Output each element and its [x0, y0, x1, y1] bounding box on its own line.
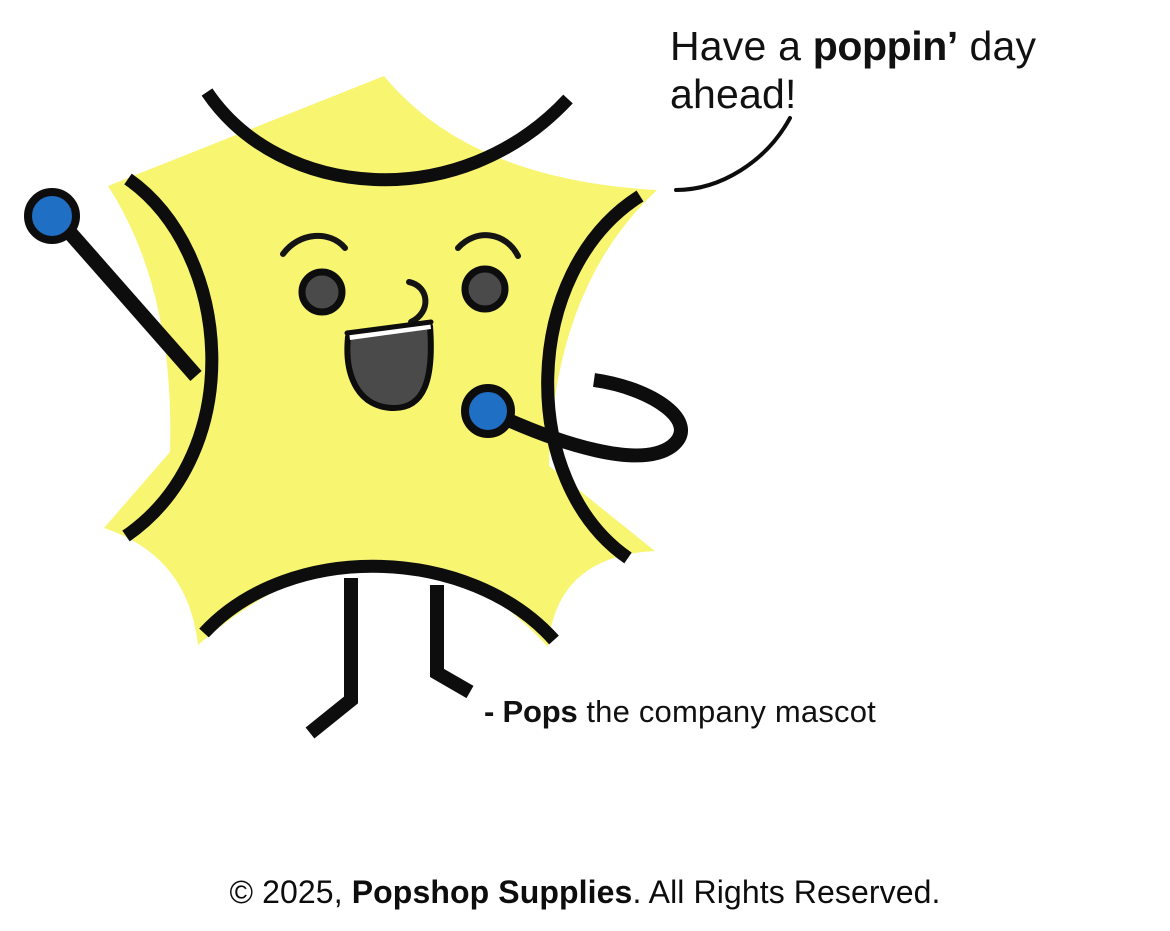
attribution-name: - Pops	[484, 694, 578, 729]
footer-brand: Popshop Supplies	[352, 874, 633, 910]
mascot-attribution: - Pops the company mascot	[484, 694, 876, 730]
left-eye	[302, 272, 342, 312]
speech-line-1-suffix: day	[958, 23, 1036, 69]
right-hand	[465, 388, 511, 434]
speech-line-1-emphasis: poppin’	[813, 23, 958, 69]
left-leg	[310, 578, 351, 733]
legs-group	[310, 578, 470, 733]
mascot-illustration-page: Have a poppin’ day ahead! - Pops the com…	[0, 0, 1170, 931]
speech-line-2: ahead!	[670, 71, 797, 117]
copyright-footer: © 2025, Popshop Supplies. All Rights Res…	[0, 872, 1170, 912]
left-hand	[28, 192, 76, 240]
speech-bubble-tail	[676, 118, 790, 190]
footer-suffix: . All Rights Reserved.	[632, 874, 940, 910]
mascot-svg-canvas	[0, 0, 1170, 931]
speech-bubble-text: Have a poppin’ day ahead!	[670, 22, 1140, 118]
right-leg	[437, 585, 470, 692]
speech-line-1-prefix: Have a	[670, 23, 813, 69]
footer-prefix: © 2025,	[229, 874, 351, 910]
right-eye	[465, 269, 505, 309]
attribution-role: the company mascot	[578, 694, 876, 729]
